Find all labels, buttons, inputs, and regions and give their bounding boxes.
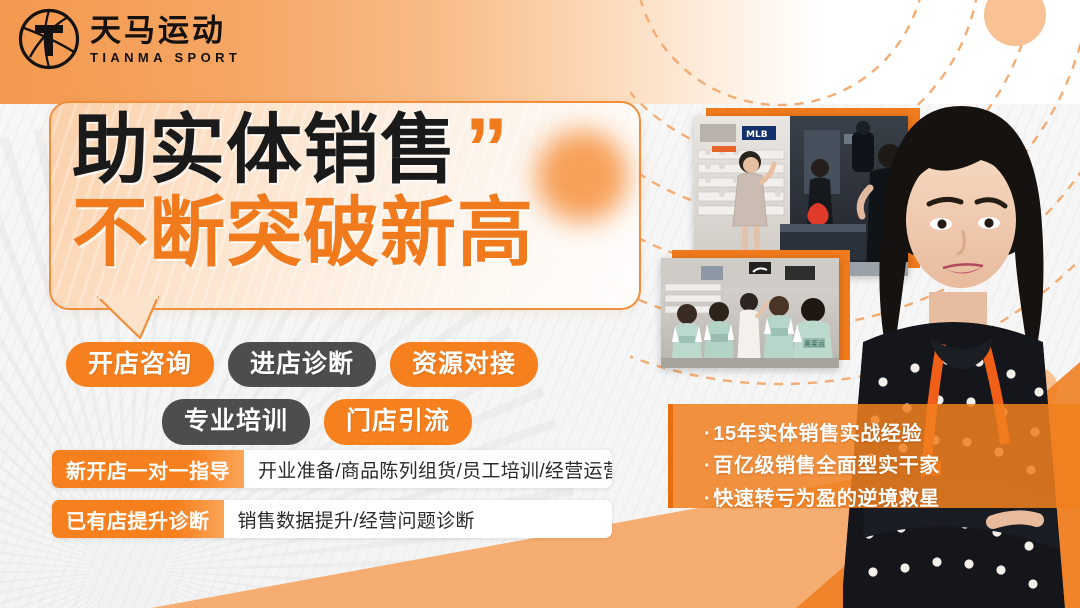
credential-text-1: 15年实体销售实战经验 bbox=[713, 423, 922, 445]
credential-text-3: 快速转亏为盈的逆境救星 bbox=[713, 488, 940, 510]
brand-wordmark: 天马运动 TIANMA SPORT bbox=[90, 15, 241, 64]
quote-mark-icon: ” bbox=[465, 114, 504, 185]
promo-banner: 天马运动 TIANMA SPORT 助实体销售 ” 不断突破新高 开店咨询 进店… bbox=[0, 0, 1080, 608]
credentials-list: ·15年实体销售实战经验 ·百亿级销售全面型实干家 ·快速转亏为盈的逆境救星 bbox=[704, 418, 1034, 515]
team-briefing-photo: 奥莱运 bbox=[661, 258, 839, 368]
credential-item-2: ·百亿级销售全面型实干家 bbox=[704, 450, 1034, 482]
basketball-monogram-icon bbox=[18, 8, 80, 70]
pill-mendian-yinliu[interactable]: 门店引流 bbox=[324, 399, 472, 444]
service-tag-new-store: 新开店一对一指导 bbox=[52, 450, 244, 488]
svg-text:MLB: MLB bbox=[746, 130, 768, 140]
service-pill-group: 开店咨询 进店诊断 资源对接 专业培训 门店引流 bbox=[66, 342, 646, 457]
svg-text:奥莱运: 奥莱运 bbox=[804, 339, 825, 348]
service-row-new-store[interactable]: 新开店一对一指导 开业准备/商品陈列组货/员工培训/经营运营 bbox=[52, 450, 612, 488]
headline-line-1: 助实体销售 bbox=[72, 112, 457, 190]
service-desc-existing-store: 销售数据提升/经营问题诊断 bbox=[224, 500, 489, 538]
brand-logo: 天马运动 TIANMA SPORT bbox=[18, 8, 241, 70]
credentials-band-edge bbox=[668, 404, 673, 508]
brand-name-en: TIANMA SPORT bbox=[90, 51, 241, 64]
blurred-orange-accent bbox=[536, 130, 628, 222]
pill-kaidian-zixun[interactable]: 开店咨询 bbox=[66, 342, 214, 387]
speech-bubble-tail bbox=[96, 296, 170, 342]
brand-name-cn: 天马运动 bbox=[90, 15, 241, 46]
credential-item-1: ·15年实体销售实战经验 bbox=[704, 418, 1034, 450]
service-tag-existing-store: 已有店提升诊断 bbox=[52, 500, 224, 538]
bullet-dot-icon: · bbox=[704, 455, 711, 477]
service-row-existing-store[interactable]: 已有店提升诊断 销售数据提升/经营问题诊断 bbox=[52, 500, 612, 538]
pill-zhuanye-peixun[interactable]: 专业培训 bbox=[162, 399, 310, 444]
bullet-dot-icon: · bbox=[704, 488, 711, 510]
consultant-portrait bbox=[843, 92, 1080, 608]
pill-row-1: 开店咨询 进店诊断 资源对接 bbox=[66, 342, 646, 387]
pill-ziyuan-duijie[interactable]: 资源对接 bbox=[390, 342, 538, 387]
pill-jindian-zhenduan[interactable]: 进店诊断 bbox=[228, 342, 376, 387]
bullet-dot-icon: · bbox=[704, 423, 711, 445]
service-detail-list: 新开店一对一指导 开业准备/商品陈列组货/员工培训/经营运营 已有店提升诊断 销… bbox=[52, 450, 612, 550]
pill-row-2: 专业培训 门店引流 bbox=[66, 399, 646, 444]
credential-item-3: ·快速转亏为盈的逆境救星 bbox=[704, 483, 1034, 515]
service-desc-new-store: 开业准备/商品陈列组货/员工培训/经营运营 bbox=[244, 450, 612, 488]
credential-text-2: 百亿级销售全面型实干家 bbox=[713, 455, 940, 477]
